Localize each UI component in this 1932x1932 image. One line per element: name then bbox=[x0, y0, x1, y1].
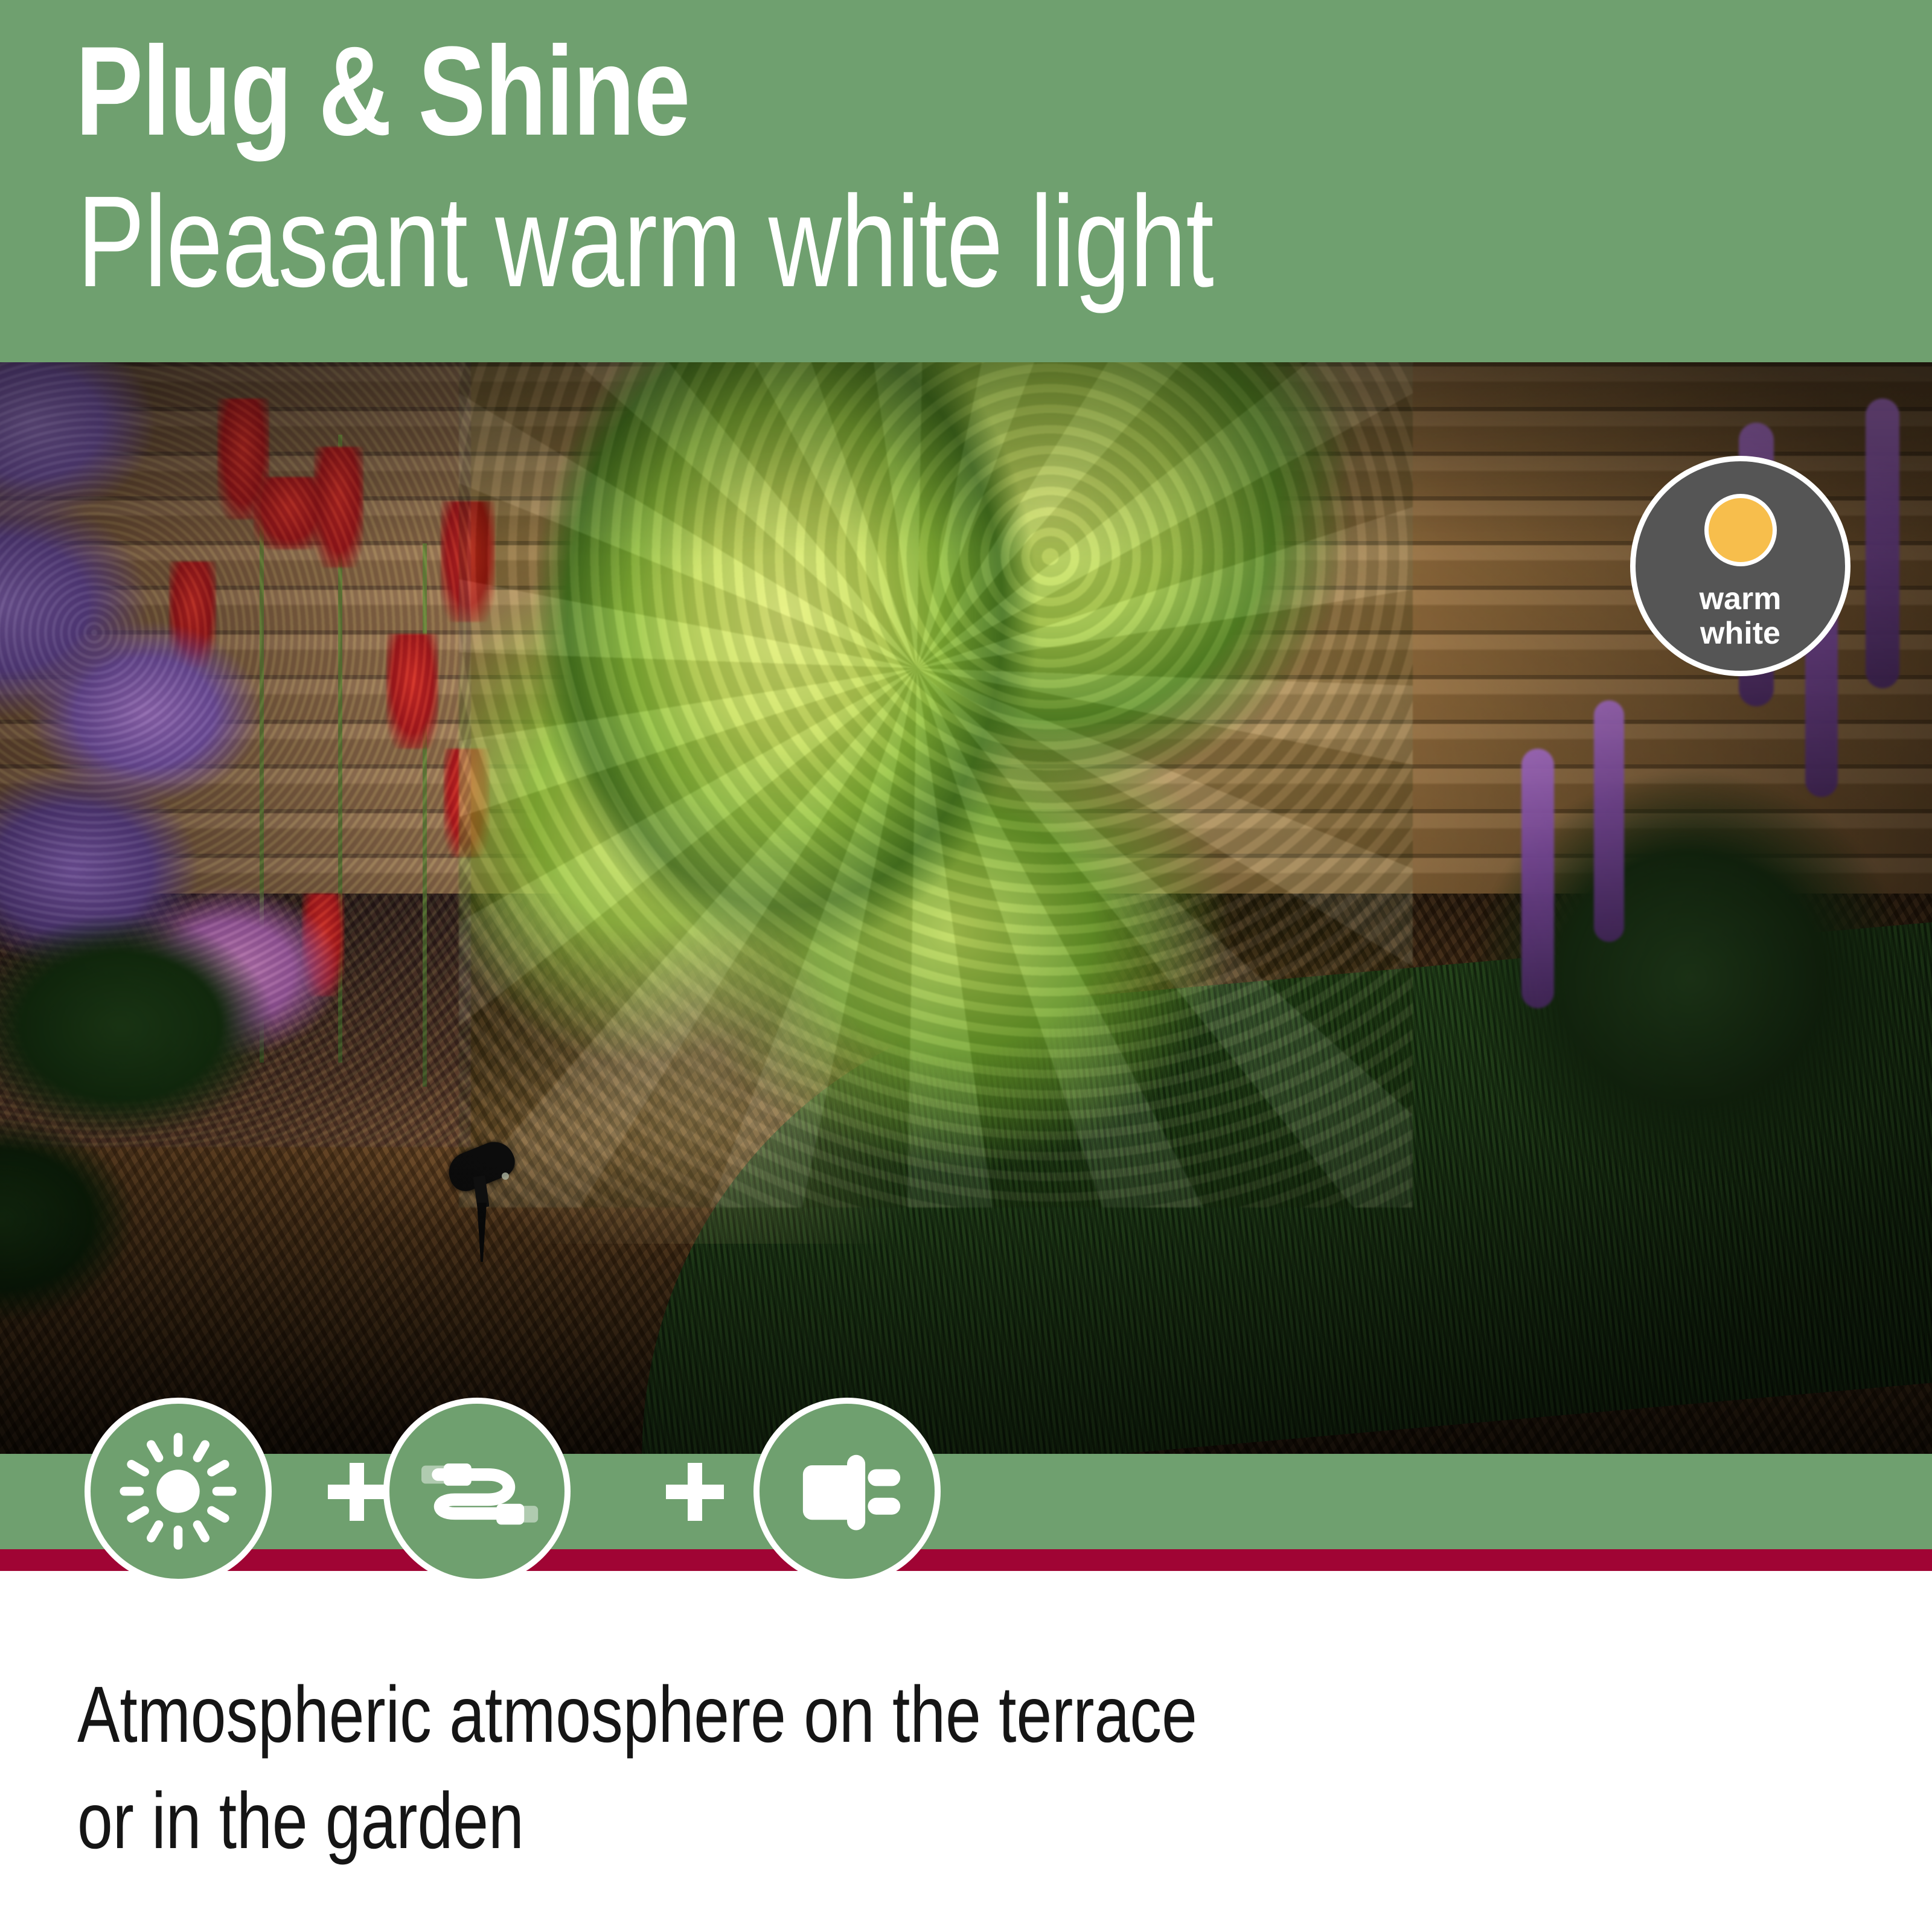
warm-white-color-dot-icon bbox=[1704, 494, 1777, 566]
feature-icon-row bbox=[0, 1395, 1932, 1588]
header-banner: Plug & Shine Pleasant warm white light bbox=[0, 0, 1932, 362]
badge-label-line1: warm bbox=[1700, 581, 1782, 616]
product-marketing-image: Plug & Shine Pleasant warm white light bbox=[0, 0, 1932, 1932]
caption-line-1: Atmospheric atmosphere on the terrace bbox=[77, 1662, 1197, 1768]
page-title: Plug & Shine bbox=[75, 28, 689, 155]
badge-label-line2: white bbox=[1700, 616, 1780, 651]
warm-white-badge: warm white bbox=[1630, 456, 1850, 676]
feature-icon-cable bbox=[383, 1398, 571, 1585]
caption-line-2: or in the garden bbox=[77, 1768, 1197, 1874]
plus-separator-2 bbox=[666, 1463, 724, 1521]
sun-icon bbox=[115, 1428, 241, 1555]
feature-icon-light bbox=[85, 1398, 272, 1585]
cable-icon bbox=[408, 1422, 546, 1561]
plug-icon bbox=[782, 1427, 912, 1556]
caption-text: Atmospheric atmosphere on the terrace or… bbox=[77, 1662, 1197, 1874]
feature-icon-plug bbox=[753, 1398, 941, 1585]
page-subtitle: Pleasant warm white light bbox=[77, 176, 1214, 306]
badge-label: warm white bbox=[1700, 582, 1782, 651]
plus-separator-1 bbox=[328, 1463, 386, 1521]
